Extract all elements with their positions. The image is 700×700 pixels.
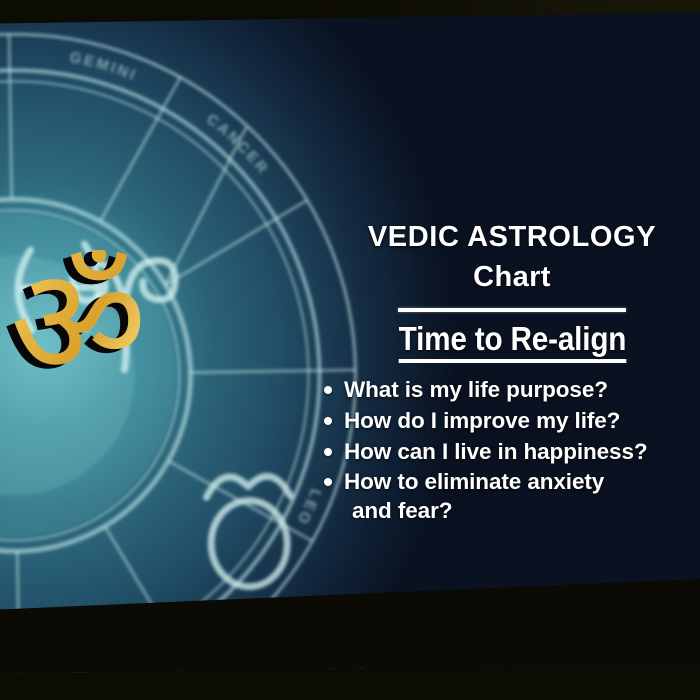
list-item-label: What is my life purpose? [344,376,608,405]
bullet-dot-icon [324,417,332,425]
list-item-line2: and fear? [344,497,604,526]
list-item: What is my life purpose? [322,376,694,405]
page-subtitle: Chart [332,261,692,294]
list-item: How can I live in happiness? [322,438,694,467]
question-list: What is my life purpose? How do I improv… [322,376,694,528]
list-item: How do I improve my life? [322,407,694,436]
list-item-label: How can I live in happiness? [344,438,648,467]
page-title: VEDIC ASTROLOGY [332,222,692,253]
title-block: VEDIC ASTROLOGY Chart Time to Re-align [332,222,692,363]
bullet-dot-icon [324,448,332,456]
om-symbol: ॐ ॐ [6,268,156,396]
list-item-line1: How to eliminate anxiety [344,469,604,494]
astrology-poster: ARIES TAURUS GEMINI CANCER LEO VIRGO [0,0,700,700]
bullet-dot-icon [324,478,332,486]
om-gold-layer: ॐ [10,250,147,397]
list-item: How to eliminate anxiety and fear? [322,468,694,526]
list-item-label: How to eliminate anxiety and fear? [344,468,604,526]
list-item-label: How do I improve my life? [344,407,620,436]
tagline: Time to Re-align [398,321,626,363]
bullet-dot-icon [324,386,332,394]
